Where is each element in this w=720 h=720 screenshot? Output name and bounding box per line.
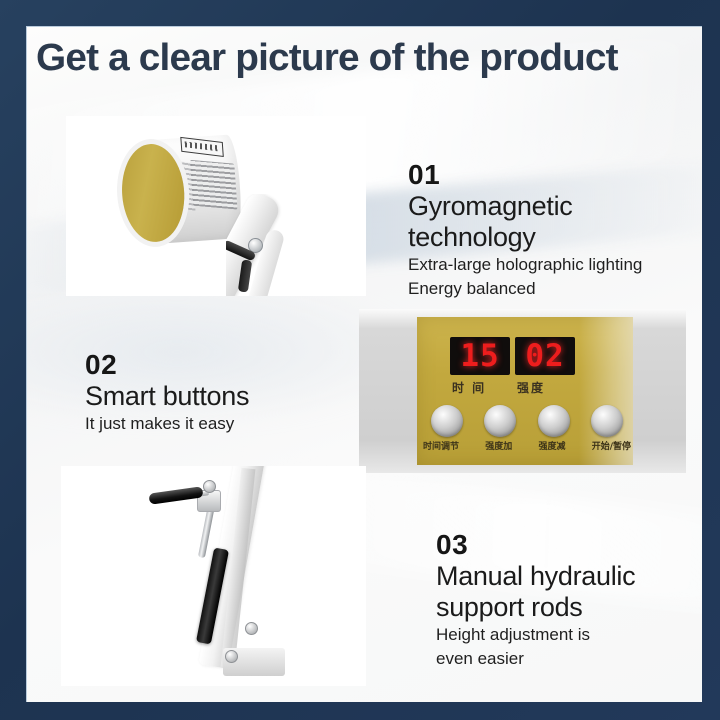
panel-button-start-pause[interactable] bbox=[591, 405, 623, 437]
feature-sub-03-line2: even easier bbox=[436, 647, 702, 671]
feature-sub-01-line1: Extra-large holographic lighting bbox=[408, 253, 702, 277]
feature-number-03: 03 bbox=[436, 529, 702, 561]
poster-frame: Get a clear picture of the product bbox=[0, 0, 720, 720]
feature-sub-01-line2: Energy balanced bbox=[408, 277, 702, 301]
led-display-time: 15 bbox=[450, 337, 510, 375]
led-display-intensity: 02 bbox=[515, 337, 575, 375]
panel-button-label-time-adjust: 时间调节 bbox=[423, 439, 459, 452]
feature-title-01-line1: Gyromagnetic bbox=[408, 191, 702, 222]
panel-button-label-intensity-down: 强度减 bbox=[538, 439, 565, 452]
panel-button-intensity-down[interactable] bbox=[538, 405, 570, 437]
feature-sub-03-line1: Height adjustment is bbox=[436, 623, 702, 647]
feature-title-02-line1: Smart buttons bbox=[85, 381, 375, 412]
lamp-arm bbox=[226, 194, 336, 296]
feature-title-03-line2: support rods bbox=[436, 592, 702, 623]
led-display-intensity-value: 02 bbox=[525, 341, 564, 372]
panel-button-label-intensity-up: 强度加 bbox=[485, 439, 512, 452]
control-panel-button-labels: 时间调节 强度加 强度减 开始/暂停 bbox=[423, 439, 631, 452]
hydraulic-lever-handle[interactable] bbox=[148, 486, 203, 504]
feature-sub-02-line1: It just makes it easy bbox=[85, 412, 375, 436]
poster-canvas: Get a clear picture of the product bbox=[26, 26, 702, 702]
feature-number-02: 02 bbox=[85, 349, 375, 381]
led-display-time-value: 15 bbox=[460, 341, 499, 372]
lamp-head-illustration bbox=[119, 134, 244, 246]
led-label-intensity: 强度 bbox=[517, 379, 545, 396]
panel-button-intensity-up[interactable] bbox=[484, 405, 516, 437]
feature-number-01: 01 bbox=[408, 159, 702, 191]
feature-block-01: 01 Gyromagnetic technology Extra-large h… bbox=[408, 159, 702, 301]
panel-button-label-start-pause: 开始/暂停 bbox=[592, 439, 631, 452]
bolt-icon bbox=[203, 480, 216, 493]
bolt-icon bbox=[225, 650, 238, 663]
led-label-time: 时 间 bbox=[452, 379, 486, 396]
panel-button-time-adjust[interactable] bbox=[431, 405, 463, 437]
product-photo-lamp-head bbox=[66, 116, 366, 296]
feature-title-03-line1: Manual hydraulic bbox=[436, 561, 702, 592]
product-photo-hydraulic-rod bbox=[61, 466, 366, 686]
support-arm-illustration bbox=[179, 466, 289, 680]
feature-block-02: 02 Smart buttons It just makes it easy bbox=[85, 349, 375, 436]
product-photo-control-panel: 15 02 时 间 强度 时间调节 强度加 强度减 开始/暂停 bbox=[359, 309, 686, 473]
bolt-icon bbox=[245, 622, 258, 635]
feature-title-01-line2: technology bbox=[408, 222, 702, 253]
control-panel-face: 15 02 时 间 强度 时间调节 强度加 强度减 开始/暂停 bbox=[417, 317, 633, 465]
feature-block-03: 03 Manual hydraulic support rods Height … bbox=[436, 529, 702, 671]
page-title: Get a clear picture of the product bbox=[36, 33, 702, 83]
